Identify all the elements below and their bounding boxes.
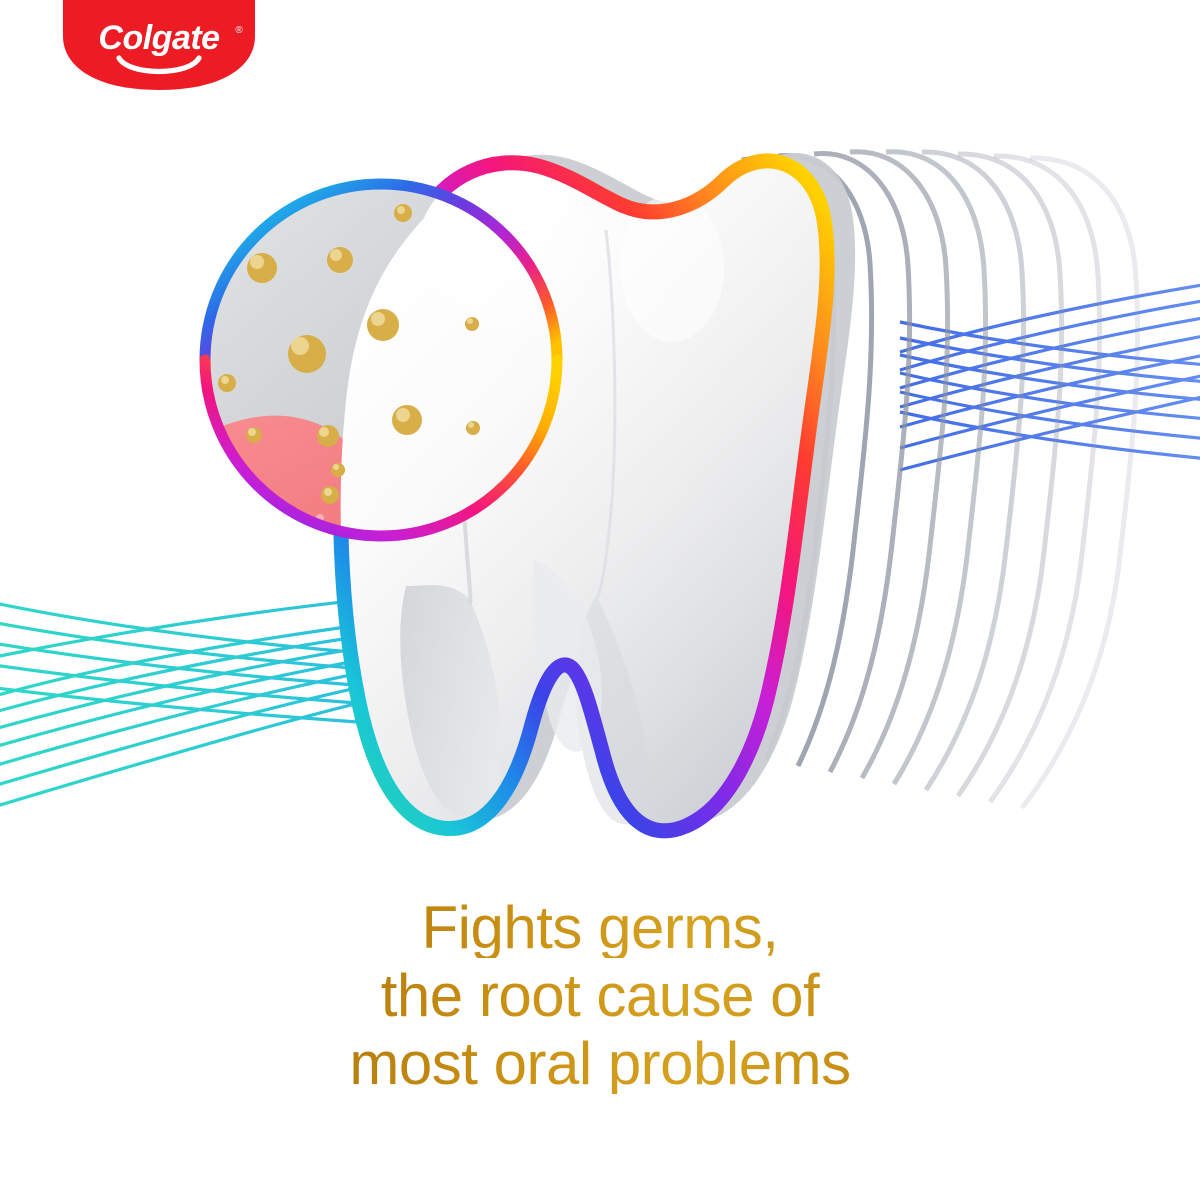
registered-mark: ® bbox=[235, 25, 243, 36]
illustration-artwork bbox=[0, 0, 1200, 1200]
colgate-logo[interactable]: Colgate ® bbox=[63, 0, 255, 90]
advertisement-canvas: Colgate ® Fights germs, the root cause o… bbox=[0, 0, 1200, 1200]
colgate-logo-svg: Colgate ® bbox=[63, 0, 255, 90]
colgate-wordmark: Colgate bbox=[98, 19, 219, 57]
